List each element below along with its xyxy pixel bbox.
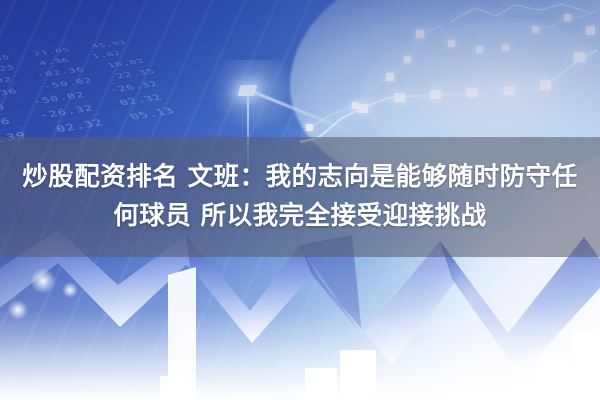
caption-text: 炒股配资排名 文班：我的志向是能够随时防守任 何球员 所以我完全接受迎接挑战 [0, 137, 600, 257]
ticker-value: 02.32 [54, 117, 106, 134]
white-column [168, 267, 196, 400]
spark-glow [62, 282, 78, 298]
spark-glow [30, 268, 56, 294]
chart-node-group-bright [358, 26, 595, 113]
ticker-value: 05.13 [127, 106, 177, 122]
chart-node-group [306, 14, 571, 131]
caption-line-1: 炒股配资排名 文班：我的志向是能够随时防守任 [22, 161, 577, 194]
chart-line-main [310, 10, 598, 128]
lamp-head-icon [237, 85, 257, 96]
caption-line-2: 何球员 所以我完全接受迎接挑战 [113, 200, 486, 233]
lamp-glow [210, 60, 300, 130]
spark-glow [8, 300, 28, 320]
banner-image: -09.02 -09.35 21.05 45.02 -09.33 -11.25 … [0, 0, 600, 400]
